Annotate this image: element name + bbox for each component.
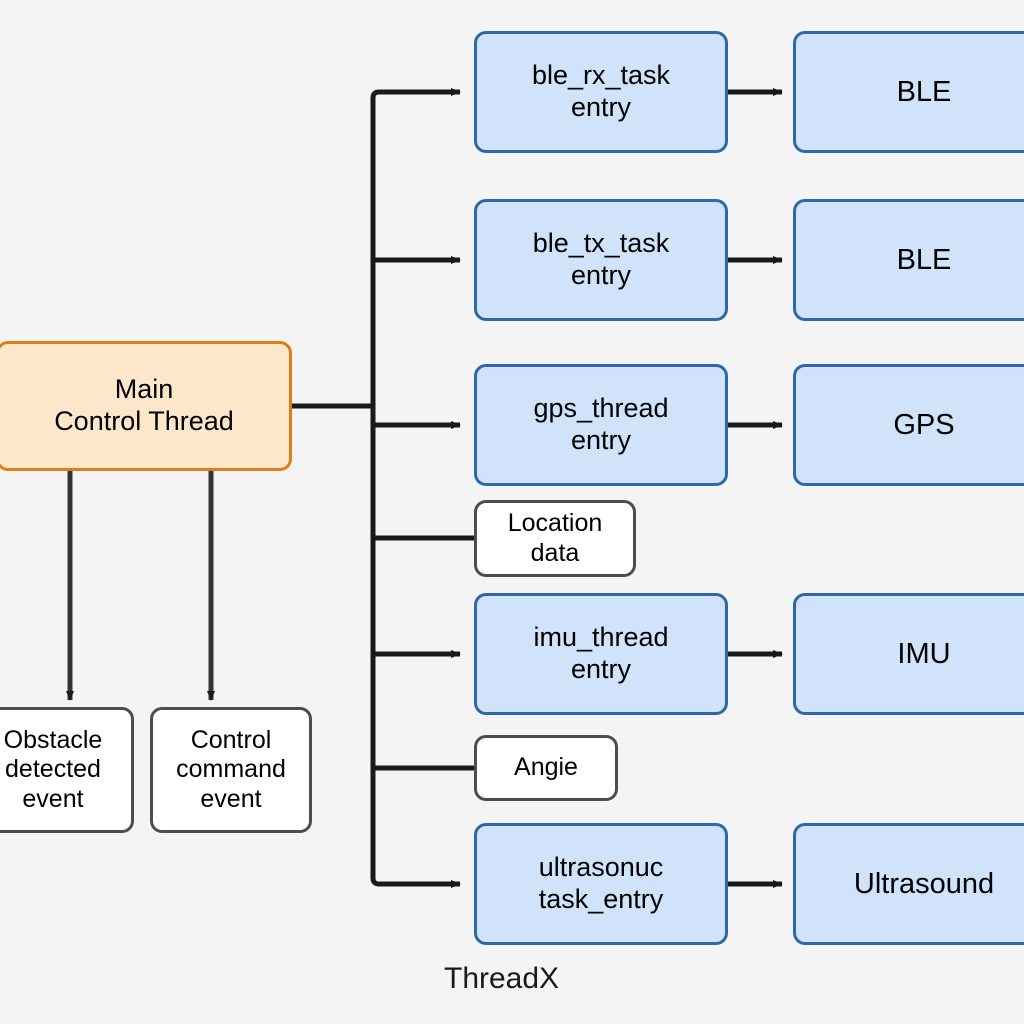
node-label: Ultrasound bbox=[854, 867, 994, 901]
node-angie[interactable]: Angie bbox=[474, 735, 618, 801]
node-label: ble_rx_task entry bbox=[532, 60, 670, 124]
node-imu-thread-entry[interactable]: imu_thread entry bbox=[474, 593, 728, 715]
node-label: imu_thread entry bbox=[533, 622, 668, 686]
threadx-caption: ThreadX bbox=[444, 962, 559, 996]
node-label: IMU bbox=[897, 637, 950, 671]
diagram-canvas: Main Control Thread Obstacle detected ev… bbox=[0, 0, 1024, 1024]
node-peripheral-imu[interactable]: IMU bbox=[793, 593, 1024, 715]
node-gps-thread-entry[interactable]: gps_thread entry bbox=[474, 364, 728, 486]
node-label: ultrasonuc task_entry bbox=[539, 852, 664, 916]
node-label: Control command event bbox=[176, 726, 286, 815]
node-peripheral-ultrasound[interactable]: Ultrasound bbox=[793, 823, 1024, 945]
node-peripheral-gps[interactable]: GPS bbox=[793, 364, 1024, 486]
node-ultrasonic-task-entry[interactable]: ultrasonuc task_entry bbox=[474, 823, 728, 945]
node-ble-tx-task-entry[interactable]: ble_tx_task entry bbox=[474, 199, 728, 321]
node-label: BLE bbox=[897, 75, 952, 109]
node-label: Location data bbox=[508, 509, 603, 568]
node-label: gps_thread entry bbox=[533, 393, 668, 457]
node-location-data[interactable]: Location data bbox=[474, 500, 636, 577]
node-main-control-thread[interactable]: Main Control Thread bbox=[0, 341, 292, 471]
node-ble-rx-task-entry[interactable]: ble_rx_task entry bbox=[474, 31, 728, 153]
node-peripheral-ble-tx[interactable]: BLE bbox=[793, 199, 1024, 321]
node-label: Obstacle detected event bbox=[4, 726, 103, 815]
node-label: Angie bbox=[514, 753, 578, 783]
node-label: ble_tx_task entry bbox=[533, 228, 670, 292]
node-control-command-event[interactable]: Control command event bbox=[150, 707, 312, 833]
node-peripheral-ble-rx[interactable]: BLE bbox=[793, 31, 1024, 153]
node-label: BLE bbox=[897, 243, 952, 277]
node-obstacle-detected-event[interactable]: Obstacle detected event bbox=[0, 707, 134, 833]
node-label: Main Control Thread bbox=[54, 374, 234, 438]
node-label: GPS bbox=[893, 408, 954, 442]
